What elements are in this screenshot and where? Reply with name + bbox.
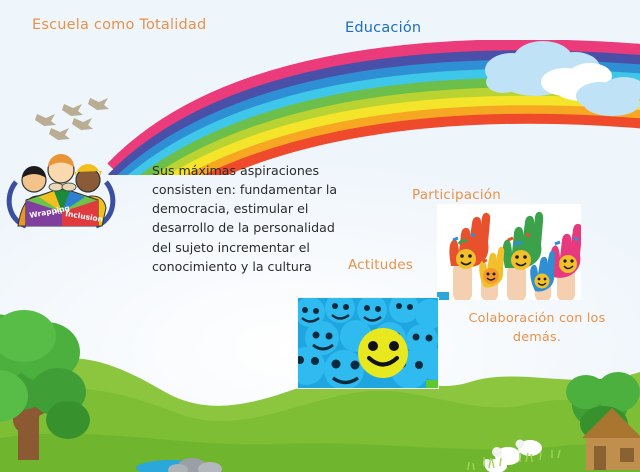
body-paragraph: Sus máximas aspiraciones consisten en: f… xyxy=(152,161,358,276)
heading-escuela-como-totalidad: Escuela como Totalidad xyxy=(32,17,206,33)
slide-canvas: Wrapping for Inclusion xyxy=(0,0,640,472)
label-actitudes: Actitudes xyxy=(348,257,413,273)
label-colaboracion: Colaboración con los demás. xyxy=(446,310,628,348)
yellow-smiley xyxy=(358,328,408,378)
label-participacion: Participación xyxy=(412,187,501,203)
heading-educacion: Educación xyxy=(345,20,421,36)
painted-hands-photo xyxy=(437,204,581,300)
smiley-balls-photo xyxy=(297,297,439,389)
